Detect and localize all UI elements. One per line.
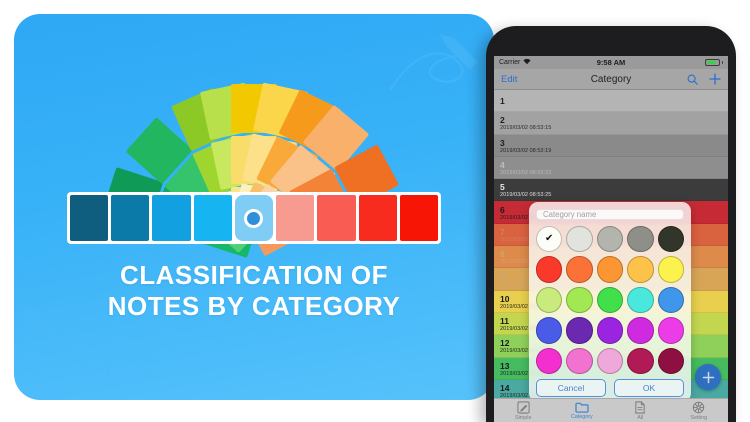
color-swatch-grid[interactable]: ✔	[536, 226, 684, 374]
list-item-timestamp: 2019/03/02 08:53:19	[500, 148, 722, 154]
status-bar-clock: 9:58 AM	[494, 58, 728, 67]
navigation-bar: Edit Category	[494, 69, 728, 90]
tab-label: Category	[571, 414, 593, 420]
color-swatch[interactable]	[627, 348, 653, 374]
color-swatch[interactable]	[627, 226, 653, 252]
chip-light-blue	[235, 195, 273, 241]
color-swatch[interactable]	[597, 317, 623, 343]
chip-blue	[152, 195, 190, 241]
promo-title-line2: NOTES BY CATEGORY	[14, 291, 494, 322]
chip-teal-blue	[111, 195, 149, 241]
color-swatch[interactable]	[536, 287, 562, 313]
phone-mockup: Carrier 9:58 AM Edit Category	[486, 26, 736, 422]
tab-category[interactable]: Category	[553, 401, 612, 420]
promo-title: CLASSIFICATION OF NOTES BY CATEGORY	[14, 260, 494, 321]
list-item-number: 1	[500, 97, 722, 106]
chip-bright-red	[400, 195, 438, 241]
cancel-button[interactable]: Cancel	[536, 379, 606, 397]
color-swatch[interactable]	[597, 287, 623, 313]
list-item[interactable]: 32019/03/02 08:53:19	[494, 135, 728, 157]
add-floating-button[interactable]	[695, 364, 721, 390]
ok-button[interactable]: OK	[614, 379, 684, 397]
color-swatch[interactable]	[566, 256, 592, 282]
list-item[interactable]: 22019/03/02 08:53:15	[494, 112, 728, 134]
tab-simple[interactable]: Simple	[494, 401, 553, 421]
list-item-number: 2	[500, 116, 722, 125]
tab-label: All	[637, 415, 643, 421]
color-swatch[interactable]	[658, 226, 684, 252]
color-swatch[interactable]	[658, 317, 684, 343]
color-chip-strip	[67, 192, 441, 244]
color-swatch[interactable]	[566, 348, 592, 374]
color-swatch[interactable]	[658, 287, 684, 313]
chip-red	[359, 195, 397, 241]
color-swatch[interactable]	[597, 348, 623, 374]
color-swatch[interactable]	[566, 287, 592, 313]
check-icon: ✔	[545, 234, 553, 244]
list-item-timestamp: 2019/03/02 08:53:25	[500, 192, 722, 198]
color-swatch[interactable]	[597, 226, 623, 252]
folder-icon	[575, 401, 589, 413]
dialog-buttons: Cancel OK	[536, 374, 684, 397]
chip-coral	[317, 195, 355, 241]
color-swatch[interactable]	[597, 256, 623, 282]
tab-bar[interactable]: SimpleCategoryAllSetting	[494, 398, 728, 422]
color-swatch[interactable]	[627, 287, 653, 313]
phone-screen: Carrier 9:58 AM Edit Category	[494, 56, 728, 422]
tab-label: Simple	[515, 415, 531, 421]
color-picker-dialog[interactable]: Category name ✔ Cancel OK	[529, 202, 691, 398]
list-item-number: 5	[500, 183, 722, 192]
category-name-input[interactable]: Category name	[536, 209, 684, 220]
pencil-square-icon	[517, 401, 530, 414]
color-swatch[interactable]	[536, 317, 562, 343]
navigation-bar-actions	[687, 73, 721, 85]
list-item-timestamp: 2019/03/02 08:53:15	[500, 125, 722, 131]
list-item-timestamp: 2019/03/02 08:53:23	[500, 170, 722, 176]
tab-all[interactable]: All	[611, 401, 670, 421]
promo-panel: CLASSIFICATION OF NOTES BY CATEGORY	[14, 14, 494, 400]
list-item-number: 3	[500, 139, 722, 148]
color-swatch[interactable]	[658, 348, 684, 374]
plus-icon[interactable]	[709, 73, 721, 85]
color-swatch[interactable]	[566, 317, 592, 343]
list-item[interactable]: 42019/03/02 08:53:23	[494, 157, 728, 179]
search-icon[interactable]	[687, 74, 698, 85]
color-swatch[interactable]	[658, 256, 684, 282]
promo-title-line1: CLASSIFICATION OF	[14, 260, 494, 291]
status-bar: Carrier 9:58 AM	[494, 56, 728, 69]
tab-label: Setting	[690, 415, 707, 421]
color-swatch[interactable]	[627, 317, 653, 343]
list-item-number: 4	[500, 161, 722, 170]
color-swatch[interactable]	[627, 256, 653, 282]
color-swatch[interactable]: ✔	[536, 226, 562, 252]
color-swatch[interactable]	[566, 226, 592, 252]
chip-navy	[70, 195, 108, 241]
screenshot-stage: CLASSIFICATION OF NOTES BY CATEGORY Carr…	[0, 0, 750, 422]
gear-icon	[692, 401, 705, 414]
document-icon	[634, 401, 646, 414]
list-item[interactable]: 1	[494, 90, 728, 112]
color-swatch[interactable]	[536, 256, 562, 282]
color-swatch[interactable]	[536, 348, 562, 374]
category-list[interactable]: 122019/03/02 08:53:1532019/03/02 08:53:1…	[494, 90, 728, 398]
tab-setting[interactable]: Setting	[670, 401, 729, 421]
chip-salmon	[276, 195, 314, 241]
list-item[interactable]: 52019/03/02 08:53:25	[494, 179, 728, 201]
chip-sky	[194, 195, 232, 241]
